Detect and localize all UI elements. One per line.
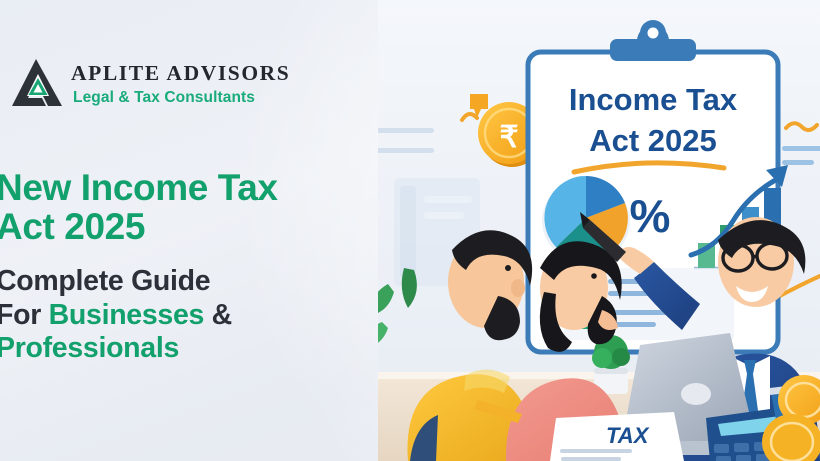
subheadline-highlight-businesses: Businesses bbox=[49, 299, 204, 331]
illustration-scene: ₹ Income Tax Act 2025 bbox=[378, 0, 820, 461]
percent-symbol: % bbox=[630, 190, 671, 242]
subheadline-ampersand: & bbox=[204, 299, 232, 331]
clipboard-title-line-2: Act 2025 bbox=[589, 123, 717, 158]
aplite-triangle-a-logo-icon bbox=[8, 57, 64, 109]
subheadline-highlight-professionals: Professionals bbox=[0, 332, 396, 365]
headline-block: New Income Tax Act 2025 Complete Guide F… bbox=[0, 168, 396, 365]
banner-root: APLITE ADVISORS Legal & Tax Consultants … bbox=[0, 0, 820, 461]
subheadline-prefix: For bbox=[0, 299, 49, 331]
brand-logo: APLITE ADVISORS Legal & Tax Consultants bbox=[8, 57, 290, 109]
clipboard-title-line-1: Income Tax bbox=[569, 82, 738, 117]
subheadline-line-1: Complete Guide bbox=[0, 265, 396, 298]
rupee-symbol: ₹ bbox=[499, 121, 518, 154]
subheadline: Complete Guide For Businesses & Professi… bbox=[0, 265, 396, 365]
brand-tagline: Legal & Tax Consultants bbox=[71, 90, 290, 106]
page-title: New Income Tax Act 2025 bbox=[0, 168, 396, 246]
brand-name: APLITE ADVISORS bbox=[71, 63, 290, 85]
tax-label: TAX bbox=[606, 423, 650, 448]
headline-line-1: New Income Tax bbox=[0, 168, 396, 207]
tax-paper: TAX bbox=[550, 412, 684, 461]
subheadline-line-2: For Businesses & bbox=[0, 299, 396, 332]
headline-line-2: Act 2025 bbox=[0, 207, 396, 246]
